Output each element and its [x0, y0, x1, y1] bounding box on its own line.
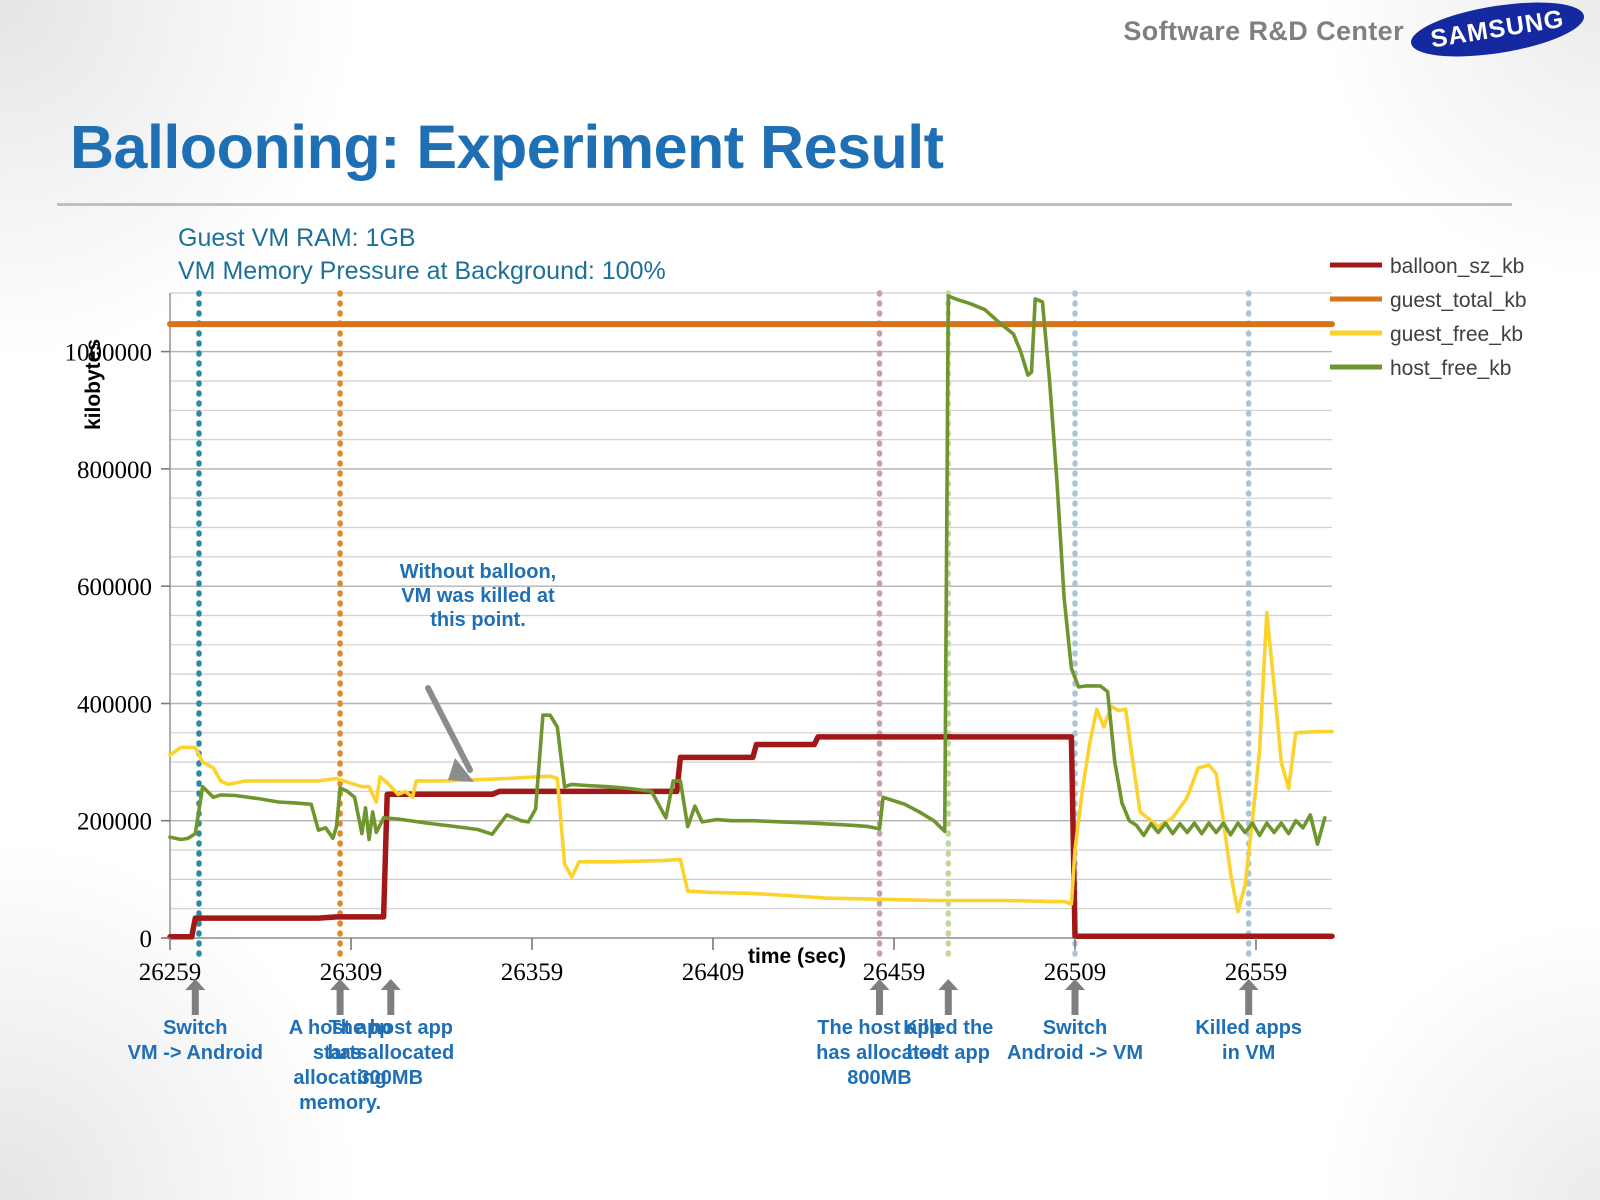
legend-label-guest_total_kb: guest_total_kb [1390, 289, 1527, 312]
x-tick-label: 26309 [320, 959, 383, 986]
x-tick-label: 26259 [139, 959, 202, 986]
event-label-line: The host app [329, 1017, 453, 1039]
event-label-line: Switch [163, 1017, 227, 1039]
x-axis-title: time (sec) [748, 945, 846, 968]
in-chart-annotation: Without balloon, VM was killed at this p… [400, 561, 556, 631]
event-label-line: Switch [1043, 1017, 1107, 1039]
chart-legend: balloon_sz_kbguest_total_kbguest_free_kb… [1330, 255, 1527, 380]
event-label-line: Killed apps [1195, 1017, 1302, 1039]
y-tick-label: 600000 [77, 574, 152, 601]
event-label-line: VM -> Android [128, 1042, 263, 1064]
y-tick-label: 400000 [77, 692, 152, 719]
legend-label-balloon_sz_kb: balloon_sz_kb [1390, 255, 1524, 278]
annotation-line-1: Without balloon, [400, 561, 556, 583]
y-axis-title: kilobytes [82, 339, 105, 430]
event-arrow-head-icon [381, 979, 401, 990]
x-tick-label: 26459 [863, 959, 926, 986]
event-label-line: 800MB [847, 1067, 911, 1089]
y-tick-label: 1000000 [65, 340, 153, 367]
y-axis-ticks: 02000004000006000008000001000000 [65, 340, 171, 953]
callout-arrow-icon [428, 688, 474, 782]
legend-label-guest_free_kb: guest_free_kb [1390, 323, 1523, 346]
x-tick-label: 26559 [1225, 959, 1288, 986]
y-tick-label: 200000 [77, 809, 152, 836]
event-label-line: memory. [299, 1092, 381, 1114]
annotation-line-2: VM was killed at [401, 585, 555, 607]
chart-container: 02000004000006000008000001000000 2625926… [0, 0, 1600, 1200]
legend-label-host_free_kb: host_free_kb [1390, 357, 1511, 380]
event-label-line: in VM [1222, 1042, 1275, 1064]
event-label-line: host app [907, 1042, 990, 1064]
x-axis-ticks: 26259263092635926409264592650926559 [139, 938, 1288, 986]
event-label-line: has allocated [327, 1042, 454, 1064]
grid-minor [170, 293, 1332, 938]
event-label-line: 300MB [359, 1067, 423, 1089]
event-label-line: Killed the [903, 1017, 993, 1039]
event-marker-labels: SwitchVM -> AndroidA host appstartsalloc… [128, 1017, 1302, 1114]
y-tick-label: 0 [140, 926, 153, 953]
series-balloon_sz_kb [170, 737, 1332, 937]
event-arrow-head-icon [938, 979, 958, 990]
y-tick-label: 800000 [77, 457, 152, 484]
event-marker-lines [199, 293, 1249, 956]
annotation-line-3: this point. [430, 609, 526, 631]
x-tick-label: 26409 [682, 959, 745, 986]
x-tick-label: 26359 [501, 959, 564, 986]
series-layer [170, 296, 1332, 937]
event-label-line: Android -> VM [1007, 1042, 1143, 1064]
experiment-result-line-chart: 02000004000006000008000001000000 2625926… [0, 0, 1600, 1200]
